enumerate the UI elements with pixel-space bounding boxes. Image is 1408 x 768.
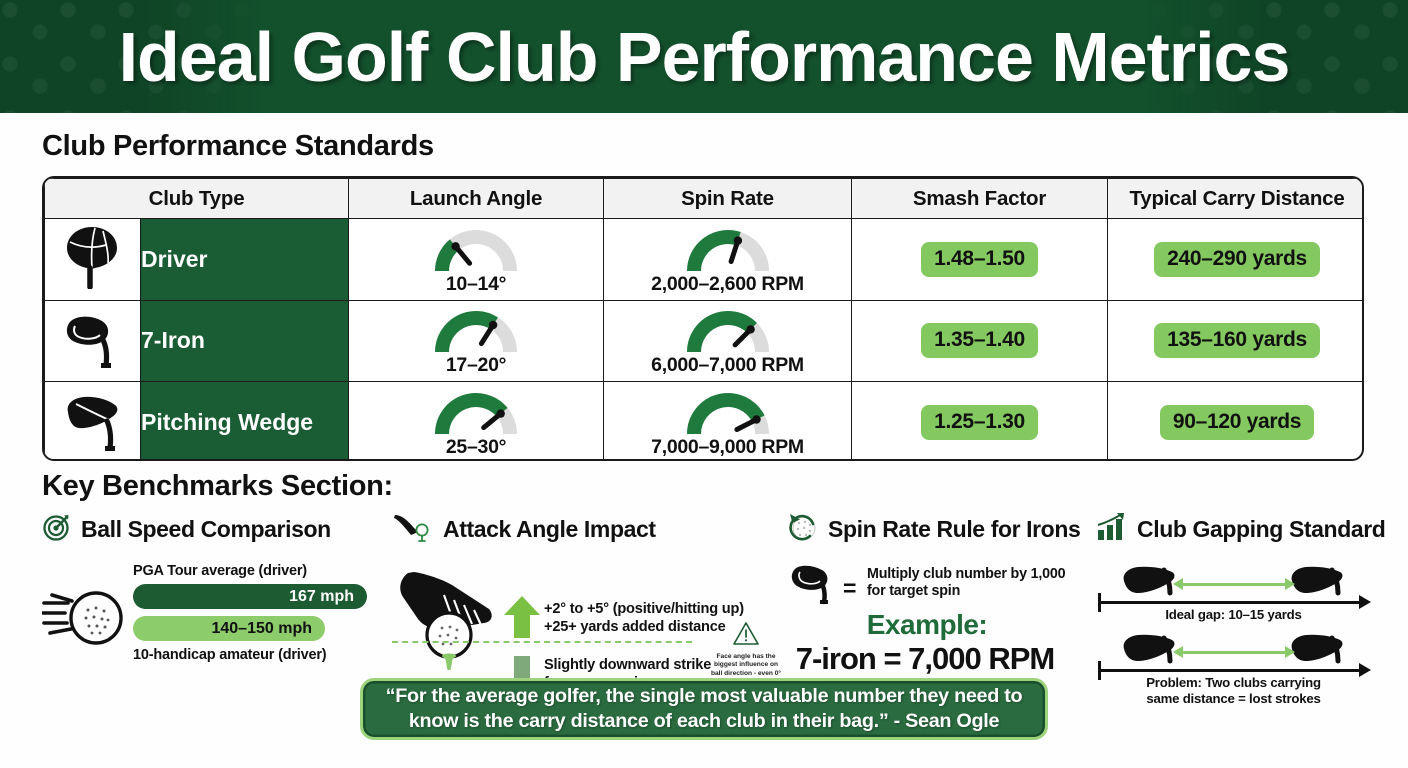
iron-club-icon xyxy=(62,357,124,374)
gapping-ideal-caption: Ideal gap: 10–15 yards xyxy=(1096,607,1371,623)
launch-angle-cell: 25–30° xyxy=(349,382,604,461)
quote-text: “For the average golfer, the single most… xyxy=(363,684,1045,734)
table-header-row: Club Type Launch Angle Spin Rate Smash F… xyxy=(45,179,1365,219)
column-header-launch-angle: Launch Angle xyxy=(349,179,604,219)
wedge-club-icon xyxy=(1120,631,1178,670)
launch-angle-gauge: 10–14° xyxy=(430,223,522,296)
attack-angle-baseline xyxy=(392,641,692,643)
ball-speed-bottom-label: 10-handicap amateur (driver) xyxy=(133,647,326,663)
warning-triangle-icon xyxy=(732,633,760,650)
spin-rule-header: Spin Rate Rule for Irons xyxy=(787,512,1087,547)
spin-rule-title: Spin Rate Rule for Irons xyxy=(828,516,1080,543)
club-performance-table: Club Type Launch Angle Spin Rate Smash F… xyxy=(42,176,1364,461)
smash-factor-cell: 1.25–1.30 xyxy=(852,382,1108,461)
carry-distance-badge: 240–290 yards xyxy=(1154,242,1320,277)
table-row: 7-Iron 17–20° 6,000–7,000 RPM 1.35–1.40 xyxy=(45,300,1365,382)
carry-distance-cell: 90–120 yards xyxy=(1108,382,1364,461)
carry-distance-badge: 90–120 yards xyxy=(1160,405,1314,440)
club-name: Pitching Wedge xyxy=(141,409,313,435)
launch-angle-gauge: 25–30° xyxy=(430,386,522,459)
spin-rule-text: Multiply club number by 1,000for target … xyxy=(867,566,1065,600)
launch-angle-cell: 10–14° xyxy=(349,219,604,301)
column-header-spin-rate: Spin Rate xyxy=(604,179,852,219)
table-body: Driver 10–14° 2,000–2,600 RPM 1.48–1.50 xyxy=(45,219,1365,462)
spin-rate-cell: 2,000–2,600 RPM xyxy=(604,219,852,301)
target-icon xyxy=(42,512,72,547)
club-tee-icon xyxy=(392,512,434,547)
wedge-club-icon xyxy=(62,439,124,456)
attack-angle-warning: Face angle has the biggest influence on … xyxy=(710,621,782,687)
spin-rule-body: = Multiply club number by 1,000for targe… xyxy=(787,557,1087,667)
bar-chart-growth-icon xyxy=(1096,512,1128,547)
spin-rate-gauge: 2,000–2,600 RPM xyxy=(651,223,804,296)
column-header-carry-distance: Typical Carry Distance xyxy=(1108,179,1364,219)
equals-sign: = xyxy=(843,575,856,602)
club-icon-cell xyxy=(45,219,141,301)
arrow-up-icon xyxy=(502,595,542,644)
ball-speed-header: Ball Speed Comparison xyxy=(42,512,387,547)
gapping-body: Ideal gap: 10–15 yards xyxy=(1096,561,1371,691)
gapping-ideal-row: Ideal gap: 10–15 yards xyxy=(1096,561,1371,619)
club-name-cell: 7-Iron xyxy=(141,300,349,382)
launch-angle-gauge: 17–20° xyxy=(430,304,522,377)
ball-speed-body: PGA Tour average (driver) 167 mph 140–15… xyxy=(42,563,387,658)
launch-angle-value: 17–20° xyxy=(446,354,506,377)
ball-speed-top-value: 167 mph xyxy=(289,588,367,606)
ball-speed-bottom-value: 140–150 mph xyxy=(211,620,325,638)
driver-club-icon xyxy=(62,276,124,293)
gapping-problem-row: Problem: Two clubs carryingsame distance… xyxy=(1096,629,1371,687)
ball-speed-top-label: PGA Tour average (driver) xyxy=(133,563,307,579)
gapping-title: Club Gapping Standard xyxy=(1137,516,1385,543)
panel-ball-speed: Ball Speed Comparison xyxy=(42,512,387,658)
page-title: Ideal Golf Club Performance Metrics xyxy=(0,0,1408,113)
wedge-club-icon xyxy=(1120,563,1178,602)
attack-angle-title: Attack Angle Impact xyxy=(443,516,656,543)
gapping-problem-arrow xyxy=(1182,651,1286,654)
club-icon-cell xyxy=(45,382,141,461)
iron-club-icon xyxy=(789,561,841,610)
launch-angle-value: 10–14° xyxy=(446,273,506,296)
attack-angle-body: +2° to +5° (positive/hitting up)+25+ yar… xyxy=(392,559,782,674)
carry-distance-cell: 240–290 yards xyxy=(1108,219,1364,301)
table-row: Pitching Wedge 25–30° 7,000–9,000 RPM 1.… xyxy=(45,382,1365,461)
gapping-header: Club Gapping Standard xyxy=(1096,512,1371,547)
benchmarks-section-title: Key Benchmarks Section: xyxy=(42,470,393,503)
spin-example-formula: 7-iron = 7,000 RPM xyxy=(775,641,1075,677)
quote-box: “For the average golfer, the single most… xyxy=(360,678,1048,740)
launch-angle-value: 25–30° xyxy=(446,436,506,459)
smash-factor-cell: 1.48–1.50 xyxy=(852,219,1108,301)
panel-club-gapping: Club Gapping Standard xyxy=(1096,512,1371,691)
panel-spin-rate-rule: Spin Rate Rule for Irons = Multiply club… xyxy=(787,512,1087,667)
carry-distance-badge: 135–160 yards xyxy=(1154,323,1320,358)
column-header-smash-factor: Smash Factor xyxy=(852,179,1108,219)
spin-rate-cell: 7,000–9,000 RPM xyxy=(604,382,852,461)
smash-factor-badge: 1.48–1.50 xyxy=(921,242,1038,277)
spin-rate-gauge: 6,000–7,000 RPM xyxy=(651,304,804,377)
panel-attack-angle: Attack Angle Impact xyxy=(392,512,782,674)
ball-speed-bar-amateur: 140–150 mph xyxy=(133,616,325,641)
carry-distance-cell: 135–160 yards xyxy=(1108,300,1364,382)
golf-ball-motion-icon xyxy=(42,587,128,654)
gapping-ideal-axis xyxy=(1098,601,1360,604)
infographic-page: Ideal Golf Club Performance Metrics Club… xyxy=(0,0,1408,768)
ball-speed-title: Ball Speed Comparison xyxy=(81,516,331,543)
spin-rate-cell: 6,000–7,000 RPM xyxy=(604,300,852,382)
gapping-ideal-arrow xyxy=(1182,583,1286,586)
spin-rate-value: 7,000–9,000 RPM xyxy=(651,436,804,459)
club-name: Driver xyxy=(141,246,207,272)
spin-rate-value: 6,000–7,000 RPM xyxy=(651,354,804,377)
wedge-club-icon xyxy=(1288,631,1346,670)
column-header-club-type: Club Type xyxy=(45,179,349,219)
smash-factor-cell: 1.35–1.40 xyxy=(852,300,1108,382)
smash-factor-badge: 1.35–1.40 xyxy=(921,323,1038,358)
club-name-cell: Driver xyxy=(141,219,349,301)
spin-example-label: Example: xyxy=(787,609,1067,641)
gapping-problem-axis xyxy=(1098,669,1360,672)
table-section-title: Club Performance Standards xyxy=(42,130,434,163)
table-row: Driver 10–14° 2,000–2,600 RPM 1.48–1.50 xyxy=(45,219,1365,301)
launch-angle-cell: 17–20° xyxy=(349,300,604,382)
wedge-club-icon xyxy=(1288,563,1346,602)
club-name-cell: Pitching Wedge xyxy=(141,382,349,461)
gapping-problem-caption: Problem: Two clubs carryingsame distance… xyxy=(1096,675,1371,706)
iron-hitting-ball-icon xyxy=(392,569,510,679)
spin-rate-gauge: 7,000–9,000 RPM xyxy=(651,386,804,459)
ball-speed-bar-pga: 167 mph xyxy=(133,584,367,609)
club-name: 7-Iron xyxy=(141,327,205,353)
attack-angle-header: Attack Angle Impact xyxy=(392,512,782,547)
ball-spin-icon xyxy=(787,512,819,547)
smash-factor-badge: 1.25–1.30 xyxy=(921,405,1038,440)
page-header: Ideal Golf Club Performance Metrics xyxy=(0,0,1408,113)
spin-rate-value: 2,000–2,600 RPM xyxy=(651,273,804,296)
club-icon-cell xyxy=(45,300,141,382)
